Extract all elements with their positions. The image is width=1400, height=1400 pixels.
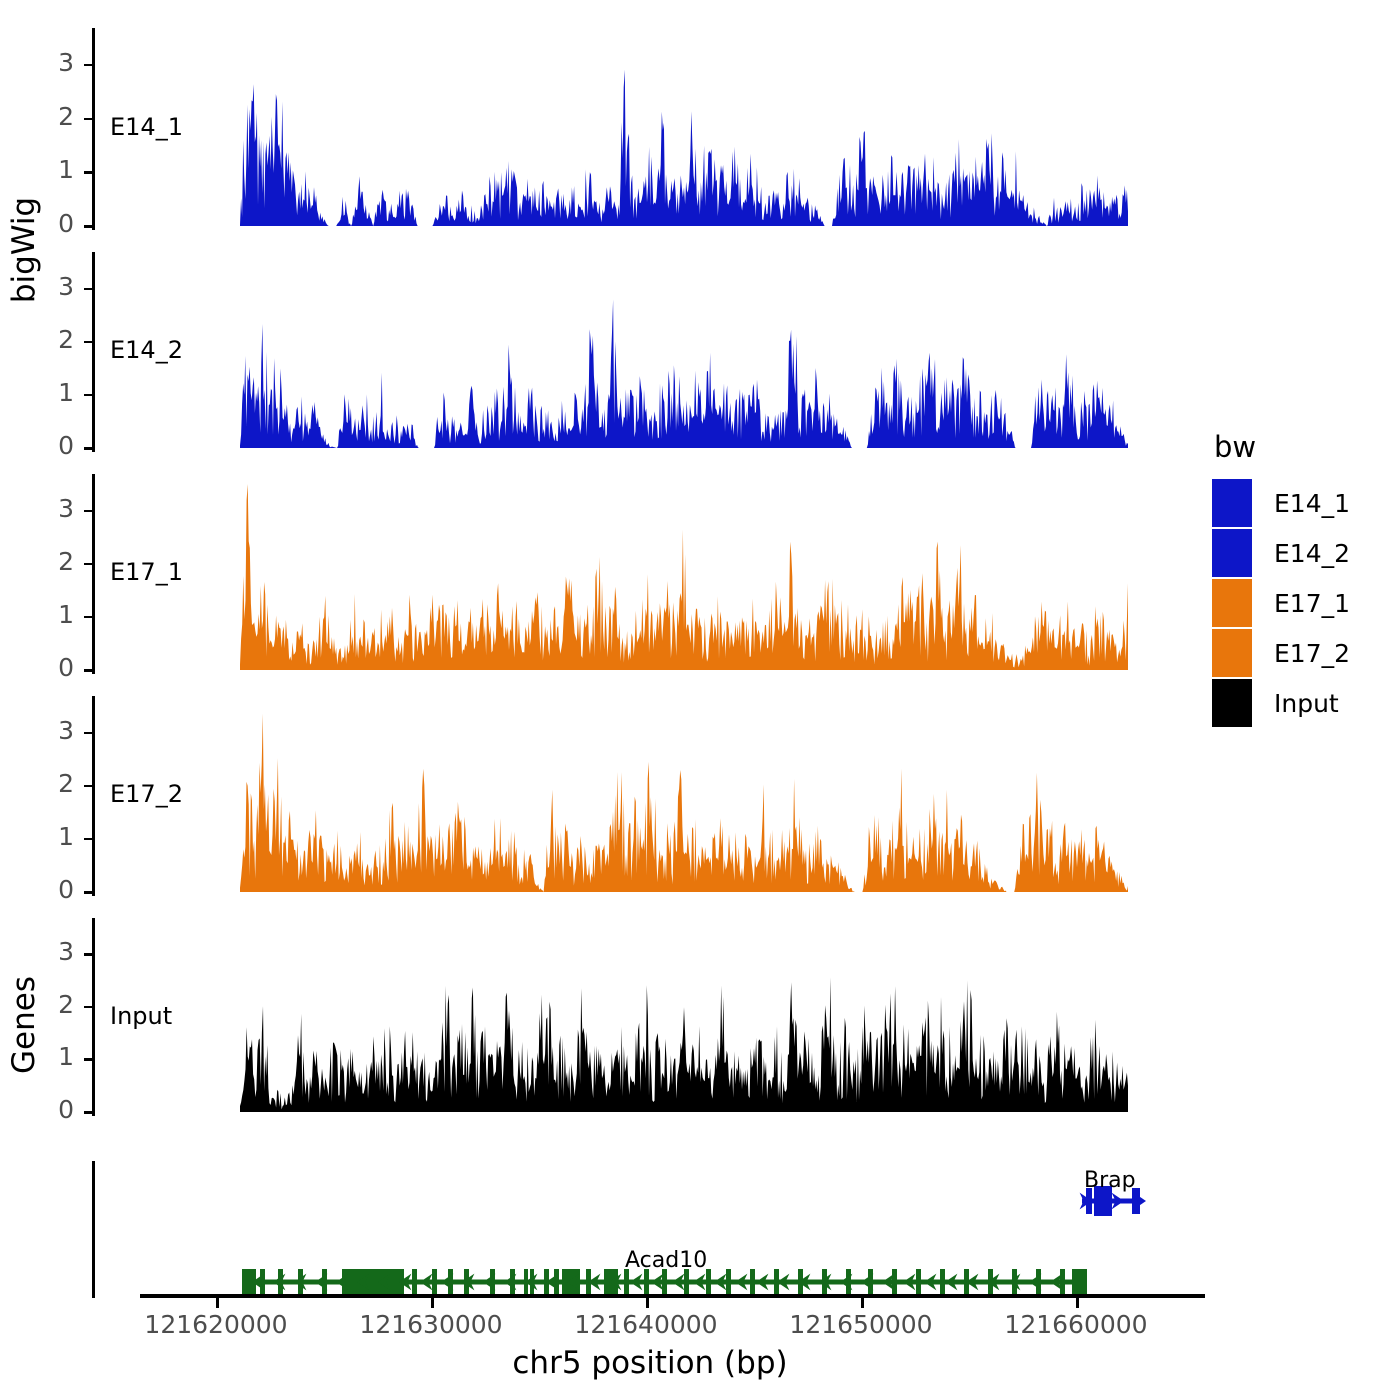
y-tick — [84, 171, 92, 174]
y-axis-line-e14_1 — [92, 28, 95, 230]
y-tick — [84, 288, 92, 291]
y-tick — [84, 341, 92, 344]
y-tick-label: 3 — [14, 48, 74, 77]
legend-item-input[interactable]: Input — [1212, 678, 1350, 728]
y-tick — [84, 785, 92, 788]
y-tick-label: 1 — [14, 378, 74, 407]
legend-item-e14_1[interactable]: E14_1 — [1212, 478, 1350, 528]
y-tick — [84, 1111, 92, 1114]
y-axis-line-input — [92, 918, 95, 1116]
panel-name-e17_2: E17_2 — [110, 780, 183, 808]
y-tick — [84, 838, 92, 841]
x-tick-label: 121660000 — [976, 1310, 1176, 1339]
x-tick-label: 121650000 — [761, 1310, 961, 1339]
y-tick — [84, 447, 92, 450]
x-axis-label: chr5 position (bp) — [90, 1345, 1210, 1381]
y-tick — [84, 225, 92, 228]
y-axis-line-e17_1 — [92, 474, 95, 674]
y-tick — [84, 1006, 92, 1009]
y-tick-label: 3 — [14, 272, 74, 301]
panel-name-e17_1: E17_1 — [110, 558, 183, 586]
y-tick-label: 2 — [14, 547, 74, 576]
y-tick-label: 2 — [14, 102, 74, 131]
y-tick — [84, 891, 92, 894]
y-tick — [84, 394, 92, 397]
x-axis-line — [140, 1294, 1205, 1298]
legend-label: E17_2 — [1274, 639, 1350, 668]
y-tick-label: 2 — [14, 990, 74, 1019]
y-tick — [84, 616, 92, 619]
y-tick-label: 1 — [14, 1042, 74, 1071]
y-tick — [84, 64, 92, 67]
y-tick-label: 3 — [14, 937, 74, 966]
legend-item-e17_2[interactable]: E17_2 — [1212, 628, 1350, 678]
y-tick-label: 0 — [14, 431, 74, 460]
y-tick — [84, 953, 92, 956]
legend-swatch — [1212, 679, 1252, 727]
x-tick-label: 121640000 — [546, 1310, 746, 1339]
y-tick-label: 2 — [14, 769, 74, 798]
y-tick-label: 0 — [14, 875, 74, 904]
y-tick-label: 1 — [14, 155, 74, 184]
x-tick-label: 121630000 — [331, 1310, 531, 1339]
legend-swatch — [1212, 579, 1252, 627]
y-tick-label: 3 — [14, 716, 74, 745]
y-tick — [84, 118, 92, 121]
legend-swatch — [1212, 529, 1252, 577]
legend-item-e14_2[interactable]: E14_2 — [1212, 528, 1350, 578]
y-tick-label: 2 — [14, 325, 74, 354]
y-axis-line-e17_2 — [92, 696, 95, 896]
coverage-track-e14_2 — [240, 262, 1128, 448]
gene-label-brap: Brap — [1084, 1168, 1136, 1193]
x-tick — [646, 1298, 649, 1308]
y-tick-label: 0 — [14, 653, 74, 682]
gene-label-acad10: Acad10 — [625, 1248, 707, 1273]
x-tick — [216, 1298, 219, 1308]
panel-name-e14_2: E14_2 — [110, 336, 183, 364]
y-tick — [84, 732, 92, 735]
y-tick-label: 1 — [14, 600, 74, 629]
legend-title: bw — [1214, 430, 1350, 464]
x-tick — [1076, 1298, 1079, 1308]
x-tick — [861, 1298, 864, 1308]
legend-label: E14_1 — [1274, 489, 1350, 518]
genome-browser-figure: bigWig Genes 0123E14_10123E14_20123E17_1… — [0, 0, 1400, 1400]
y-tick-label: 0 — [14, 209, 74, 238]
legend-label: Input — [1274, 689, 1339, 718]
coverage-track-input — [240, 928, 1128, 1112]
coverage-track-e17_1 — [240, 484, 1128, 670]
y-tick — [84, 669, 92, 672]
x-tick — [431, 1298, 434, 1308]
legend-label: E14_2 — [1274, 539, 1350, 568]
y-tick — [84, 510, 92, 513]
coverage-track-e17_2 — [240, 706, 1128, 892]
x-tick-label: 121620000 — [116, 1310, 316, 1339]
panel-name-input: Input — [110, 1002, 172, 1030]
coverage-track-e14_1 — [240, 38, 1128, 226]
legend-item-e17_1[interactable]: E17_1 — [1212, 578, 1350, 628]
y-tick-label: 1 — [14, 822, 74, 851]
y-tick — [84, 1058, 92, 1061]
y-tick — [84, 563, 92, 566]
y-axis-line-e14_2 — [92, 252, 95, 452]
y-tick-label: 3 — [14, 494, 74, 523]
legend-swatch — [1212, 479, 1252, 527]
panel-name-e14_1: E14_1 — [110, 113, 183, 141]
genes-axis-label: Genes — [6, 950, 42, 1100]
legend-swatch — [1212, 629, 1252, 677]
genes-track — [92, 1155, 1152, 1300]
legend: bw E14_1E14_2E17_1E17_2Input — [1212, 430, 1350, 728]
y-tick-label: 0 — [14, 1095, 74, 1124]
legend-label: E17_1 — [1274, 589, 1350, 618]
